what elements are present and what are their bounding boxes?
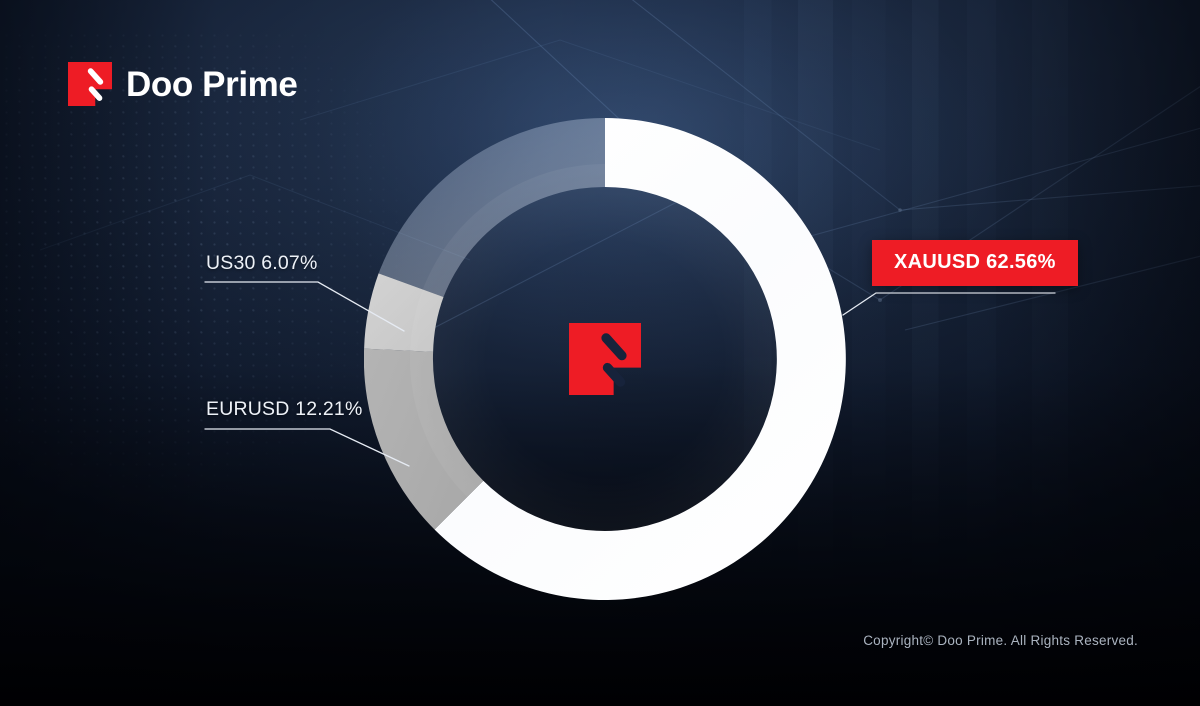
brand-name: Doo Prime: [126, 67, 297, 102]
copyright-text: Copyright© Doo Prime. All Rights Reserve…: [863, 633, 1138, 648]
callout-label-us30: US30 6.07%: [206, 252, 318, 275]
donut-chart: [364, 118, 846, 600]
brand-logo: Doo Prime: [68, 62, 297, 106]
infographic-canvas: Doo Prime: [0, 0, 1200, 706]
doo-prime-logo-icon: [569, 323, 641, 395]
callout-badge-xauusd: XAUUSD 62.56%: [872, 240, 1078, 286]
doo-prime-logo-icon: [68, 62, 112, 106]
callout-label-eurusd: EURUSD 12.21%: [206, 398, 363, 421]
